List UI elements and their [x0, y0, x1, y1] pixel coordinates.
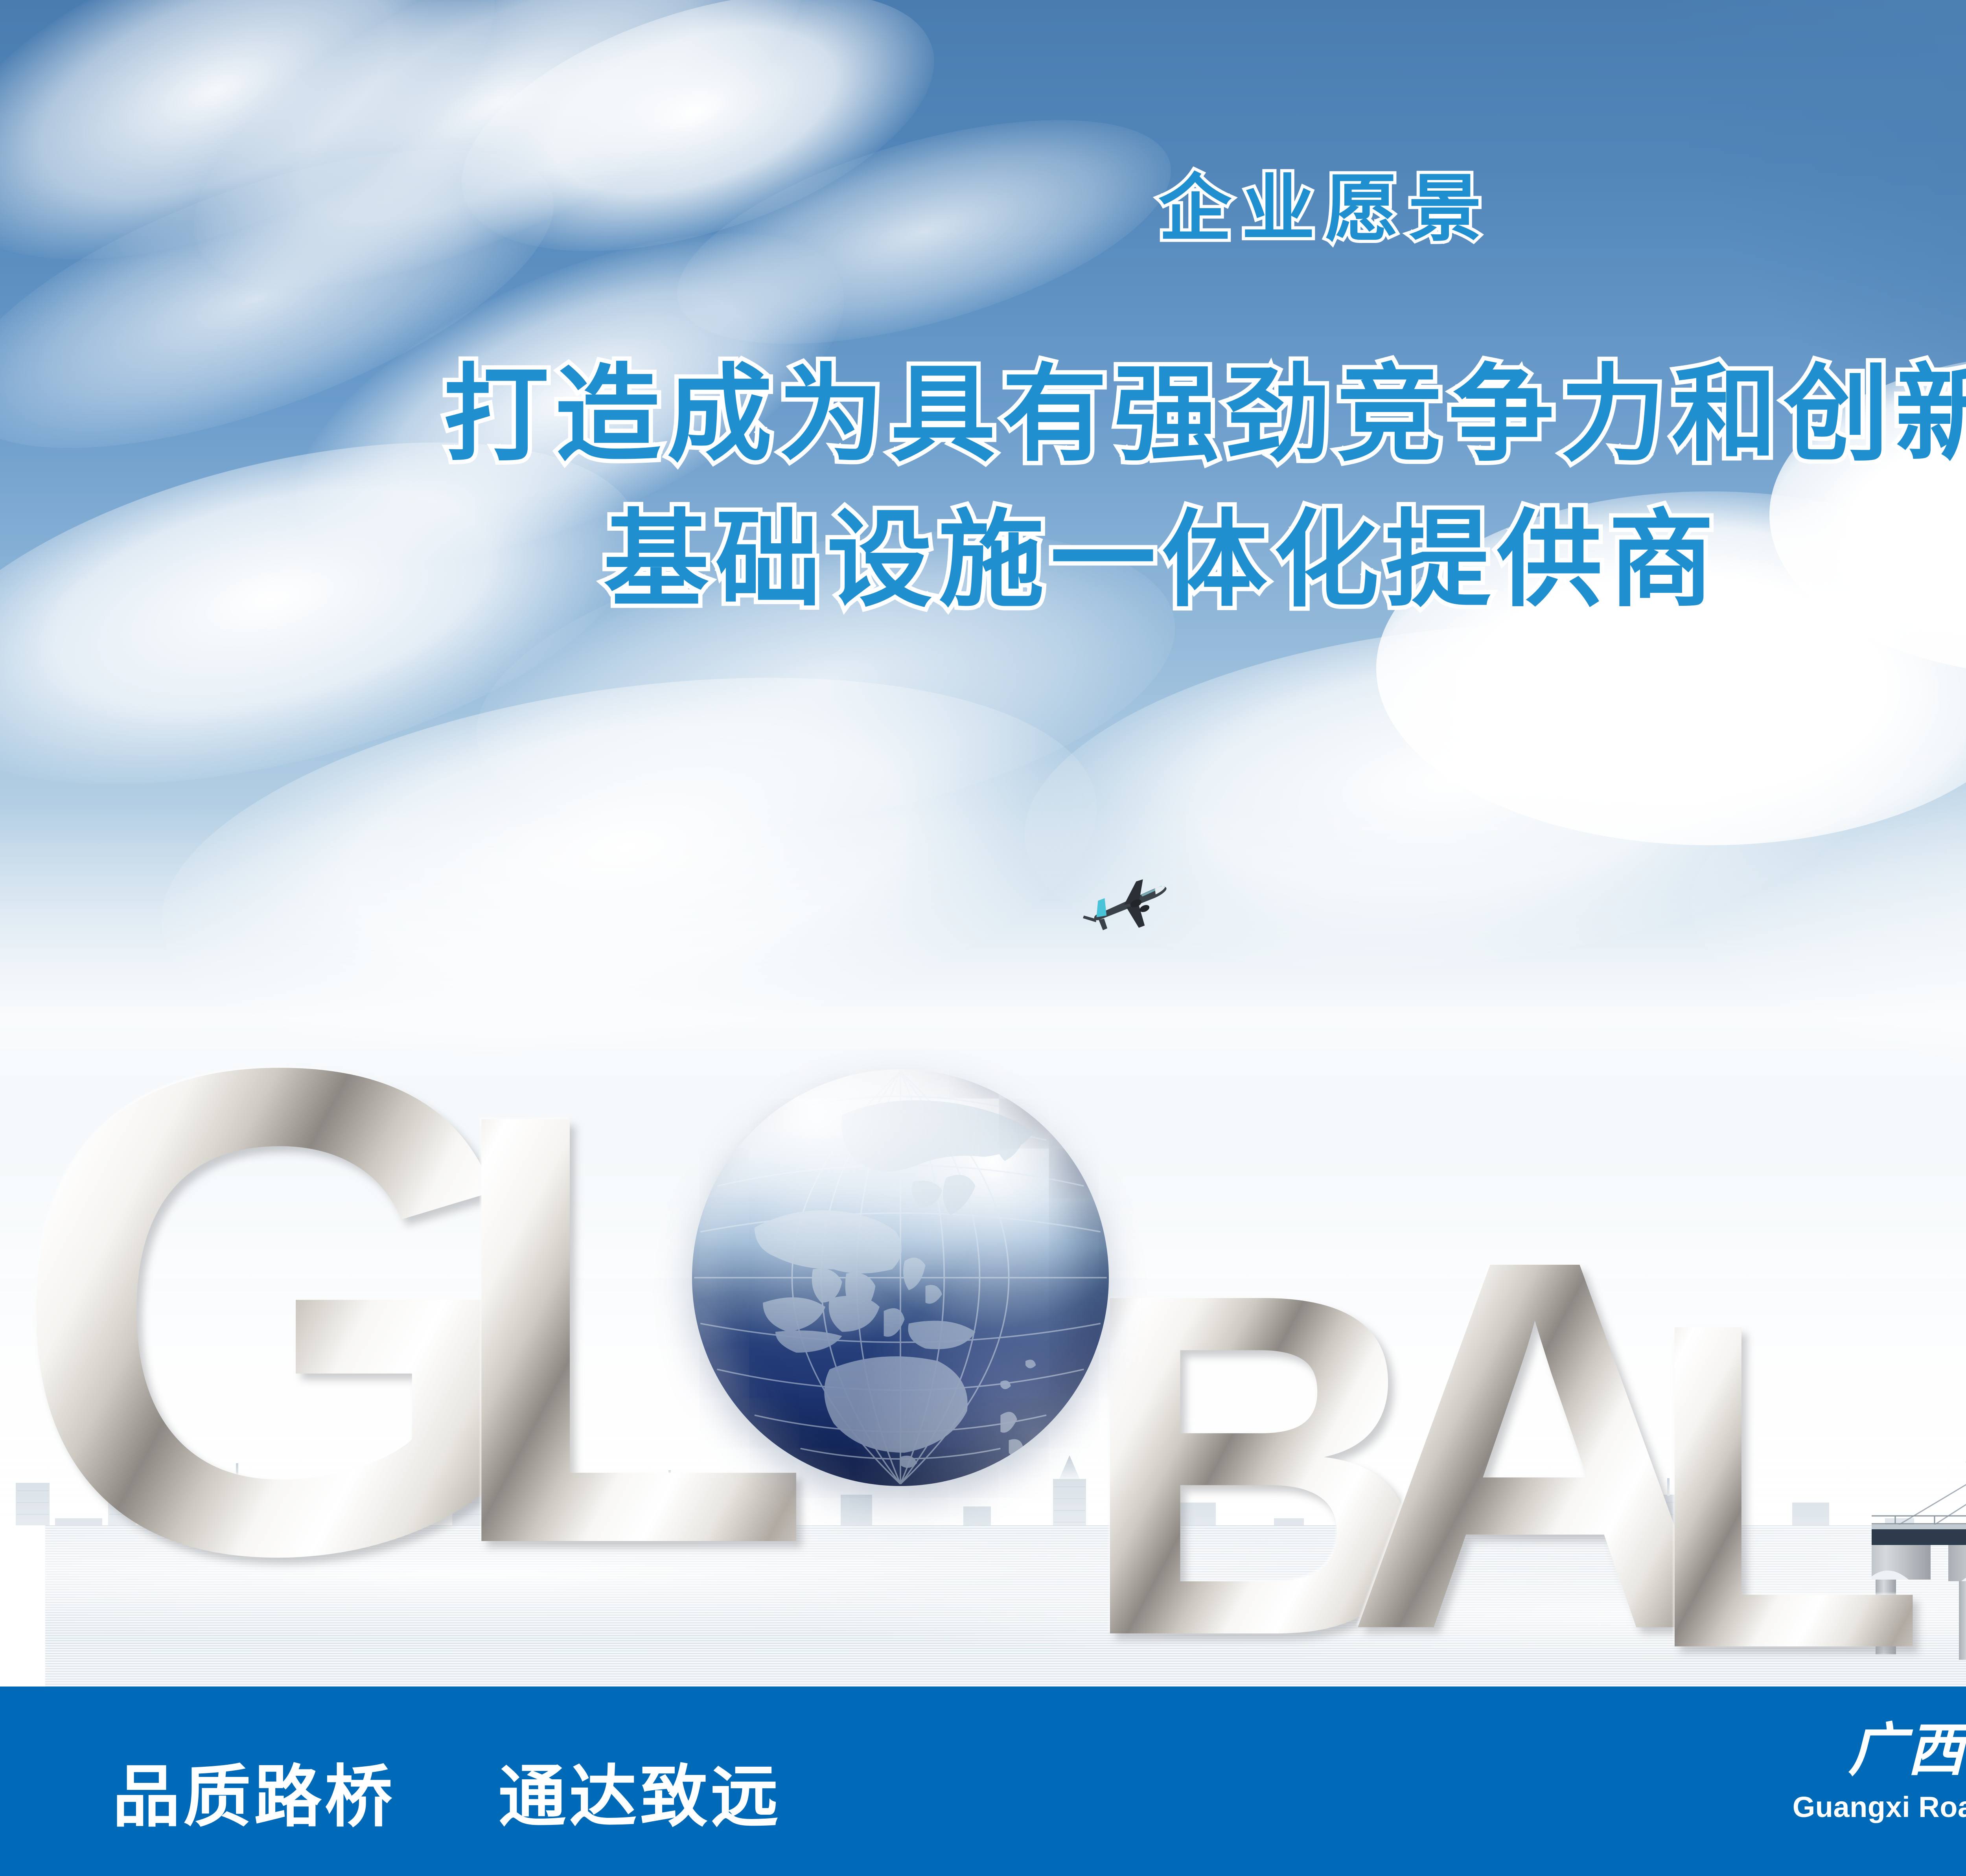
footer-slogan: 品质路桥 通达致远	[112, 1742, 782, 1840]
wordmark-letter-l2: L	[1644, 1254, 1927, 1718]
vision-slogan-line-1: 打造成为具有强劲竞争力和创新力的	[0, 342, 1966, 487]
vision-label: 企业愿景	[1158, 169, 1492, 250]
footer-bar: 品质路桥 通达致远 广西路桥工程集团有限公司 Guangxi Road and …	[0, 1687, 1966, 1876]
corporate-vision-poster: G L B A L 企业愿景 打造成为具有强劲竞争力和创新力的 基础设施一体化提…	[0, 0, 1966, 1876]
vision-label-row: 企业愿景	[0, 169, 1966, 250]
vision-slogan: 打造成为具有强劲竞争力和创新力的 基础设施一体化提供商	[0, 342, 1966, 633]
company-identity: 广西路桥工程集团有限公司 Guangxi Road and Bridge Eng…	[1793, 1719, 1966, 1824]
earth-globe	[692, 1069, 1109, 1486]
airplane-icon	[1073, 865, 1191, 940]
company-name-cn: 广西路桥工程集团有限公司	[1793, 1719, 1966, 1783]
footer-slogan-right: 通达致远	[499, 1759, 782, 1835]
vision-slogan-line-2: 基础设施一体化提供商	[0, 487, 1966, 633]
footer-slogan-left: 品质路桥	[112, 1759, 396, 1835]
globe-graticule	[692, 1069, 1109, 1486]
company-name-en: Guangxi Road and Bridge Engineering Grou…	[1793, 1790, 1966, 1824]
